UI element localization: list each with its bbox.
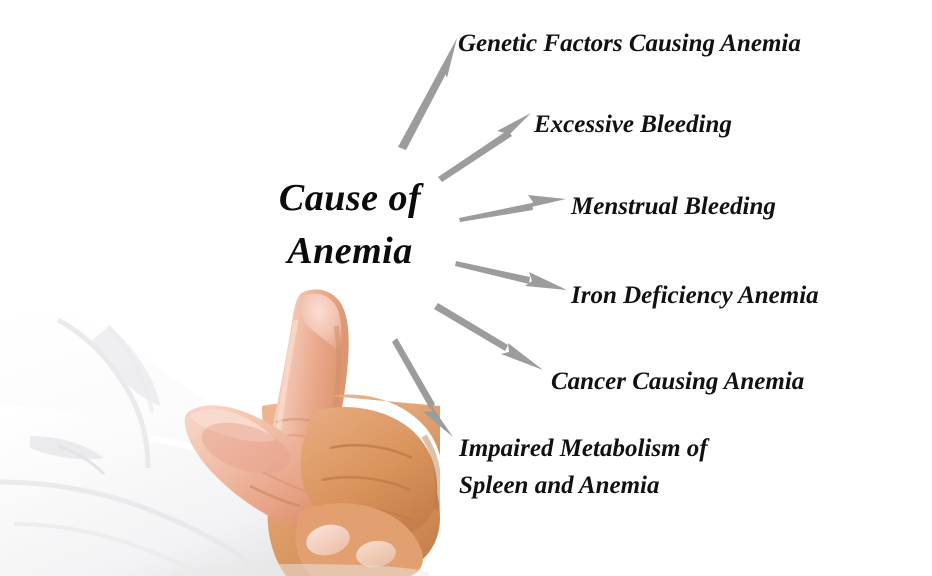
arrow-to-menstrual bbox=[459, 195, 566, 222]
arrow-to-impaired bbox=[392, 338, 453, 437]
center-title-line-1: Cause of bbox=[250, 172, 450, 225]
branch-label-cancer-text: Cancer Causing Anemia bbox=[551, 363, 804, 400]
branch-label-genetic-text: Genetic Factors Causing Anemia bbox=[458, 25, 801, 62]
branch-label-genetic: Genetic Factors Causing Anemia bbox=[458, 25, 801, 62]
branch-label-iron-text: Iron Deficiency Anemia bbox=[571, 277, 819, 314]
branch-label-menstrual-text: Menstrual Bleeding bbox=[571, 188, 776, 225]
diagram-canvas: Cause of Anemia Genetic Factors Causing … bbox=[0, 0, 932, 576]
arrow-to-genetic bbox=[398, 38, 457, 150]
branch-label-excessive: Excessive Bleeding bbox=[534, 106, 732, 143]
branch-label-iron: Iron Deficiency Anemia bbox=[571, 277, 819, 314]
center-title: Cause of Anemia bbox=[250, 172, 450, 278]
branch-label-impaired: Impaired Metabolism of Spleen and Anemia bbox=[459, 430, 708, 504]
branch-label-menstrual: Menstrual Bleeding bbox=[571, 188, 776, 225]
center-title-line-2: Anemia bbox=[250, 225, 450, 278]
arrow-to-excessive bbox=[438, 113, 531, 182]
branch-label-impaired-line-2: Spleen and Anemia bbox=[459, 467, 708, 504]
arrow-to-iron bbox=[455, 261, 567, 290]
branch-label-cancer: Cancer Causing Anemia bbox=[551, 363, 804, 400]
branch-label-impaired-line-1: Impaired Metabolism of bbox=[459, 430, 708, 467]
branch-label-excessive-text: Excessive Bleeding bbox=[534, 106, 732, 143]
arrow-to-cancer bbox=[434, 303, 543, 370]
